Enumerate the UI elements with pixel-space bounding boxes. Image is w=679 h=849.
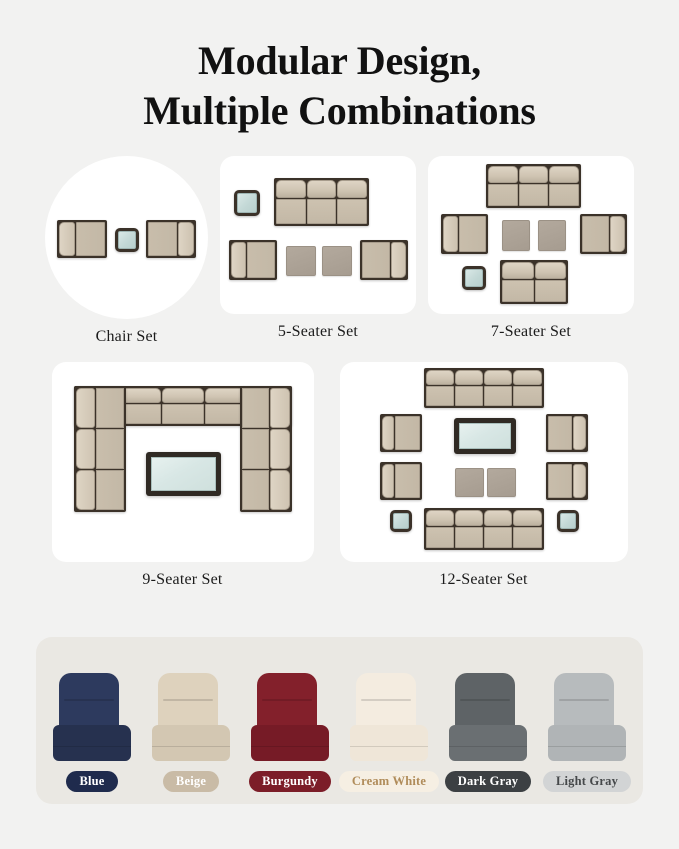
title-line-2: Multiple Combinations	[0, 86, 679, 136]
chair-icon	[380, 414, 422, 452]
color-swatch-row: Blue Beige Burgundy Cream White	[36, 637, 643, 804]
config-chair-set[interactable]: Chair Set	[45, 156, 208, 346]
sectional-right-icon	[240, 386, 292, 512]
color-swatch-light-gray[interactable]: Light Gray	[541, 673, 633, 792]
layout-diagram-chair-set	[45, 156, 208, 319]
cushion-seat	[152, 725, 230, 761]
side-table-icon	[462, 266, 486, 290]
color-options-panel: Blue Beige Burgundy Cream White	[36, 637, 643, 804]
cushion-back	[554, 673, 614, 731]
cushion-back	[356, 673, 416, 731]
coffee-table-icon	[146, 452, 221, 496]
title-line-1: Modular Design,	[0, 36, 679, 86]
configuration-row-2: 9-Seater Set	[0, 362, 679, 589]
config-card-chair-set[interactable]	[45, 156, 208, 319]
config-7-seater-set[interactable]: 7-Seater Set	[428, 156, 634, 341]
sofa-3-seat-icon	[486, 164, 581, 208]
side-table-icon	[115, 228, 139, 252]
color-label-blue: Blue	[66, 771, 117, 792]
cushion-icon	[152, 673, 230, 763]
cushion-back	[455, 673, 515, 731]
cushion-icon	[53, 673, 131, 763]
config-card-7-seater-set[interactable]	[428, 156, 634, 314]
chair-icon	[360, 240, 408, 280]
sofa-3-seat-icon	[274, 178, 369, 226]
color-swatch-burgundy[interactable]: Burgundy	[244, 673, 336, 792]
cushion-back	[59, 673, 119, 731]
cushion-icon	[449, 673, 527, 763]
side-table-icon	[234, 190, 260, 216]
cushion-icon	[350, 673, 428, 763]
chair-icon	[146, 220, 196, 258]
cushion-icon	[548, 673, 626, 763]
cushion-back	[158, 673, 218, 731]
ottoman-icon	[286, 246, 316, 276]
sofa-4-seat-icon	[424, 368, 544, 408]
configuration-row-1: Chair Set	[0, 156, 679, 346]
layout-diagram-7-seater-set	[428, 156, 634, 314]
loveseat-2-seat-icon	[500, 260, 568, 304]
config-label-5-seater-set: 5-Seater Set	[278, 323, 358, 341]
config-9-seater-set[interactable]: 9-Seater Set	[52, 362, 314, 589]
layout-diagram-9-seater-set	[52, 362, 314, 562]
ottoman-icon	[538, 220, 566, 251]
color-label-dark-gray: Dark Gray	[445, 771, 531, 792]
chair-icon	[546, 462, 588, 500]
page-title: Modular Design, Multiple Combinations	[0, 0, 679, 136]
coffee-table-icon	[454, 418, 516, 454]
config-card-12-seater-set[interactable]	[340, 362, 628, 562]
config-card-5-seater-set[interactable]	[220, 156, 416, 314]
sectional-left-icon	[74, 386, 126, 512]
ottoman-icon	[322, 246, 352, 276]
config-label-12-seater-set: 12-Seater Set	[439, 571, 527, 589]
config-12-seater-set[interactable]: 12-Seater Set	[340, 362, 628, 589]
chair-icon	[57, 220, 107, 258]
cushion-seat	[449, 725, 527, 761]
color-label-beige: Beige	[163, 771, 219, 792]
color-swatch-cream-white[interactable]: Cream White	[343, 673, 435, 792]
config-card-9-seater-set[interactable]	[52, 362, 314, 562]
color-label-burgundy: Burgundy	[249, 771, 331, 792]
config-label-7-seater-set: 7-Seater Set	[491, 323, 571, 341]
config-label-chair-set: Chair Set	[96, 328, 158, 346]
chair-icon	[441, 214, 488, 254]
config-5-seater-set[interactable]: 5-Seater Set	[220, 156, 416, 341]
color-swatch-beige[interactable]: Beige	[145, 673, 237, 792]
cushion-seat	[251, 725, 329, 761]
ottoman-icon	[455, 468, 484, 497]
chair-icon	[380, 462, 422, 500]
chair-icon	[546, 414, 588, 452]
cushion-seat	[548, 725, 626, 761]
configuration-grid: Chair Set	[0, 156, 679, 589]
cushion-seat	[53, 725, 131, 761]
cushion-icon	[251, 673, 329, 763]
color-swatch-blue[interactable]: Blue	[46, 673, 138, 792]
layout-diagram-12-seater-set	[340, 362, 628, 562]
ottoman-icon	[487, 468, 516, 497]
config-label-9-seater-set: 9-Seater Set	[142, 571, 222, 589]
ottoman-icon	[502, 220, 530, 251]
cushion-seat	[350, 725, 428, 761]
side-table-icon	[390, 510, 412, 532]
chair-icon	[580, 214, 627, 254]
sofa-4-seat-icon	[424, 508, 544, 550]
chair-icon	[229, 240, 277, 280]
cushion-back	[257, 673, 317, 731]
layout-diagram-5-seater-set	[220, 156, 416, 314]
side-table-icon	[557, 510, 579, 532]
color-label-light-gray: Light Gray	[543, 771, 631, 792]
color-swatch-dark-gray[interactable]: Dark Gray	[442, 673, 534, 792]
color-label-cream-white: Cream White	[339, 771, 439, 792]
